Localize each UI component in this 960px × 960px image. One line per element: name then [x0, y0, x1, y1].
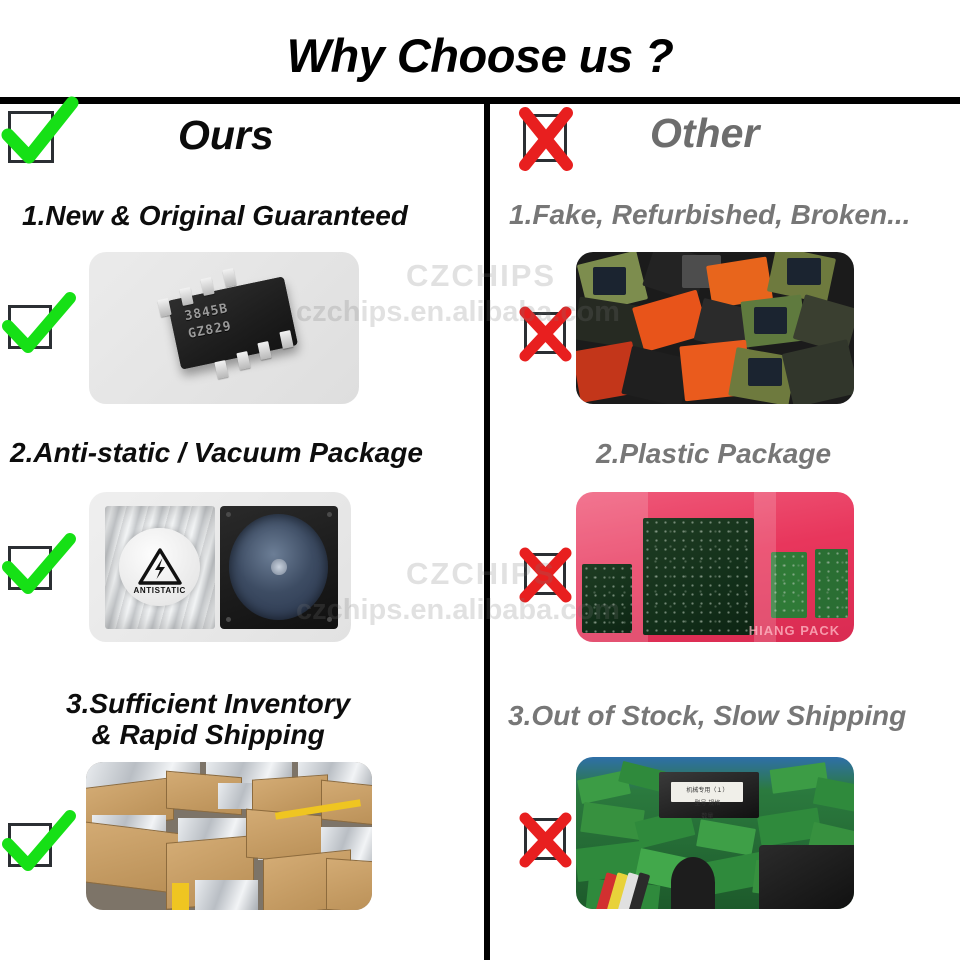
other-row1-cross-icon: [524, 312, 566, 354]
scrap-pcb-pile: 机械专用（１） 型号 规格 数量: [576, 757, 854, 909]
chip-pin: [201, 277, 215, 296]
ours-row1-check-icon: [8, 305, 52, 349]
ours-row3-photo: [86, 762, 372, 910]
ours-row2-caption: 2.Anti-static / Vacuum Package: [10, 437, 423, 468]
other-row2-photo: HIANG PACK: [576, 492, 854, 642]
other-row3-photo: 机械专用（１） 型号 规格 数量: [576, 757, 854, 909]
why-choose-us-infographic: Why Choose us ? Ours Other 1.New & Origi…: [0, 0, 960, 960]
column-heading-other: Other: [650, 110, 759, 157]
other-row1-photo: [576, 252, 854, 404]
other-row3-caption: 3.Out of Stock, Slow Shipping: [508, 700, 906, 731]
ours-row3-caption: 3.Sufficient Inventory & Rapid Shipping: [66, 688, 350, 751]
other-row2-cross-icon: [524, 553, 566, 595]
ours-row3-check-icon: [8, 823, 52, 867]
inventory-boxes: [86, 762, 372, 910]
watermark-brand-top: CZCHIPS: [406, 258, 556, 294]
ours-header-check-icon: [8, 111, 54, 163]
module-label-line3: 数量: [671, 812, 743, 821]
column-divider: [484, 104, 490, 960]
column-heading-ours: Ours: [178, 112, 274, 159]
other-row1-caption: 1.Fake, Refurbished, Broken...: [509, 199, 910, 230]
black-module: 机械专用（１） 型号 规格 数量: [659, 772, 759, 818]
antistatic-bag: ANTISTATIC: [105, 506, 215, 629]
antistatic-bag-label: ANTISTATIC: [119, 528, 200, 607]
high-voltage-icon: [138, 548, 182, 586]
ours-row2-photo: ANTISTATIC: [89, 492, 351, 642]
ours-row1-photo: 3845B GZ829: [89, 252, 359, 404]
ours-row3-caption-line1: 3.Sufficient Inventory: [66, 688, 350, 719]
ours-row2-check-icon: [8, 546, 52, 590]
pink-bagged-pcbs: HIANG PACK: [576, 492, 854, 642]
pack-watermark: HIANG PACK: [749, 623, 840, 638]
scrap-chip-pile: [576, 252, 854, 404]
chip-pin: [214, 360, 228, 379]
module-label: 机械专用（１） 型号 规格 数量: [671, 782, 743, 802]
ours-row3-caption-line2: & Rapid Shipping: [66, 719, 350, 750]
other-row2-caption: 2.Plastic Package: [596, 438, 831, 469]
module-label-line1: 机械专用（１）: [671, 786, 743, 795]
module-label-line2: 型号 规格: [671, 799, 743, 808]
page-title: Why Choose us ?: [0, 28, 960, 83]
tape-reel: [220, 506, 338, 629]
reel-disc: [229, 514, 328, 620]
reel-hub: [271, 559, 287, 576]
header-divider: [0, 97, 960, 104]
other-row3-cross-icon: [524, 818, 566, 860]
chip-pin: [222, 268, 236, 287]
ours-row1-caption: 1.New & Original Guaranteed: [22, 200, 408, 231]
other-header-cross-icon: [523, 114, 567, 162]
antistatic-text: ANTISTATIC: [119, 586, 200, 595]
